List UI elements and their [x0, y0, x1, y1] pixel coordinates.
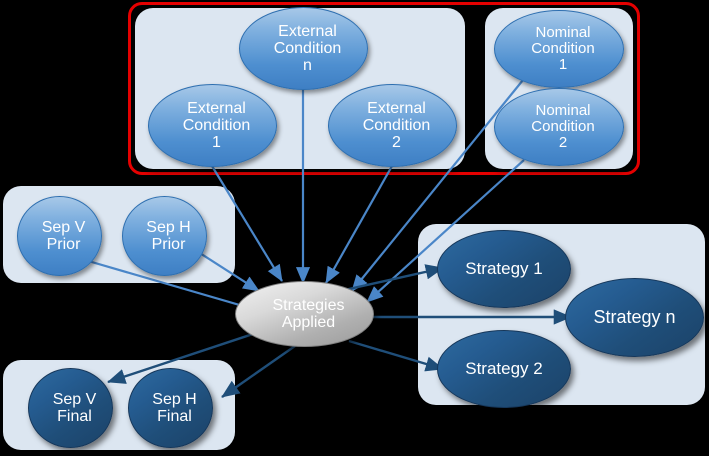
- node-label-line1: Strategies: [240, 297, 377, 314]
- node-sep-v-final[interactable]: Sep V Final: [28, 368, 113, 448]
- node-label-line2: Final: [33, 408, 116, 425]
- node-label: Strategy n: [566, 308, 703, 327]
- node-label-line1: External: [244, 23, 371, 40]
- edge-hub-to-seph-final: [222, 346, 295, 397]
- node-label-line3: 2: [499, 135, 627, 151]
- node-label-line2: Condition: [153, 117, 280, 134]
- edge-hub-to-strategy-2: [349, 341, 443, 369]
- node-label-line1: Sep H: [133, 391, 216, 408]
- node-label-line2: Condition: [499, 41, 627, 57]
- node-label-line2: Prior: [22, 236, 105, 253]
- edge-hub-to-strategy-1: [340, 268, 443, 291]
- node-nominal-condition-2[interactable]: Nominal Condition 2: [494, 88, 624, 166]
- node-label-line2: Condition: [333, 117, 460, 134]
- node-label-line3: 1: [153, 134, 280, 151]
- node-label: Strategy 1: [438, 260, 570, 278]
- node-label-line1: Nominal: [499, 25, 627, 41]
- node-external-condition-1[interactable]: External Condition 1: [148, 84, 277, 167]
- node-label-line2: Condition: [499, 119, 627, 135]
- node-label-line3: 2: [333, 134, 460, 151]
- node-strategies-applied[interactable]: Strategies Applied: [235, 281, 374, 347]
- node-strategy-1[interactable]: Strategy 1: [437, 230, 571, 308]
- node-nominal-condition-1[interactable]: Nominal Condition 1: [494, 10, 624, 88]
- node-sep-h-final[interactable]: Sep H Final: [128, 368, 213, 448]
- node-external-condition-n[interactable]: External Condition n: [239, 7, 368, 90]
- node-strategy-2[interactable]: Strategy 2: [437, 330, 571, 408]
- node-label-line1: External: [153, 100, 280, 117]
- node-label-line2: Final: [133, 408, 216, 425]
- node-sep-v-prior[interactable]: Sep V Prior: [17, 196, 102, 276]
- node-label: Strategy 2: [438, 360, 570, 378]
- node-label-line3: n: [244, 57, 371, 74]
- diagram-canvas: External Condition n External Condition …: [0, 0, 709, 456]
- node-label-line1: Sep H: [127, 219, 210, 236]
- node-label-line1: Sep V: [33, 391, 116, 408]
- node-label-line2: Condition: [244, 40, 371, 57]
- node-label-line1: External: [333, 100, 460, 117]
- edge-ext-1-to-hub: [212, 166, 282, 281]
- node-strategy-n[interactable]: Strategy n: [565, 278, 704, 357]
- node-label-line3: 1: [499, 57, 627, 73]
- node-label-line1: Nominal: [499, 103, 627, 119]
- node-external-condition-2[interactable]: External Condition 2: [328, 84, 457, 167]
- node-label-line2: Applied: [240, 314, 377, 331]
- node-sep-h-prior[interactable]: Sep H Prior: [122, 196, 207, 276]
- edge-ext-2-to-hub: [326, 166, 392, 283]
- node-label-line2: Prior: [127, 236, 210, 253]
- node-label-line1: Sep V: [22, 219, 105, 236]
